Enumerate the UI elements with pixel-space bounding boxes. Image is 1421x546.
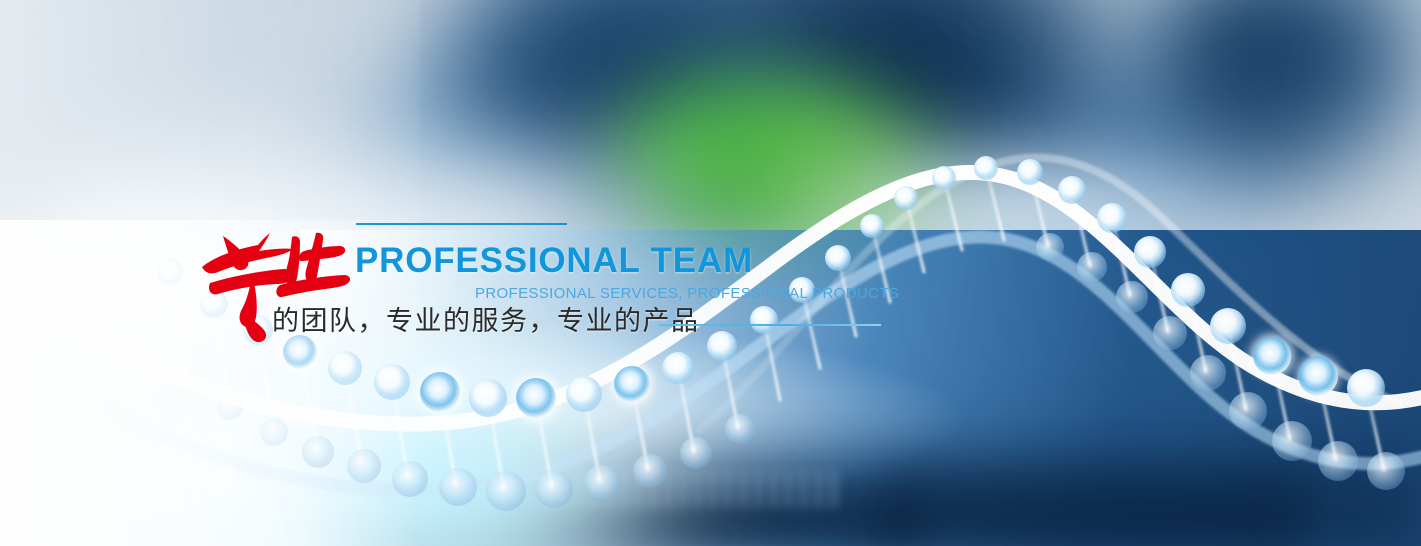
promotional-banner: PROFESSIONAL TEAM PROFESSIONAL SERVICES,… <box>0 0 1421 546</box>
decorative-rule-bottom <box>659 324 881 326</box>
chinese-tagline: 的团队，专业的服务，专业的产品 <box>272 307 700 337</box>
decorative-rule-top <box>356 223 567 225</box>
headline-professional-team: PROFESSIONAL TEAM <box>355 243 753 278</box>
subheadline-services-products: PROFESSIONAL SERVICES, PROFESSIONAL PROD… <box>475 286 899 301</box>
banner-text-block: PROFESSIONAL TEAM PROFESSIONAL SERVICES,… <box>0 0 1421 546</box>
